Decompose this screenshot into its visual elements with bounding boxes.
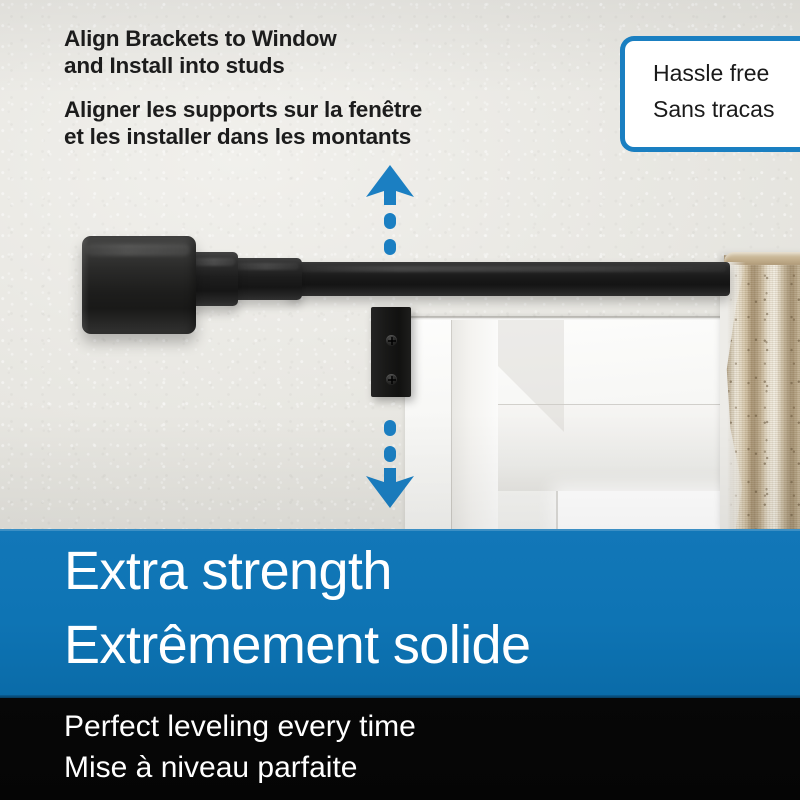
rod-specular-highlight [290, 266, 726, 272]
finial-left-edge [82, 238, 89, 332]
arrow-up-dashed-icon [362, 163, 418, 261]
finial-highlight [86, 244, 190, 256]
product-feature-image: Align Brackets to Window and Install int… [0, 0, 800, 800]
casing-inner-jamb [452, 320, 498, 529]
black-band-text-english: Perfect leveling every time [64, 710, 416, 743]
badge-text-english: Hassle free [653, 55, 800, 91]
instruction-heading: Align Brackets to Window and Install int… [64, 26, 484, 150]
blue-band-text-french: Extrêmement solide [64, 617, 530, 673]
hassle-free-badge: Hassle free Sans tracas [620, 36, 800, 152]
phillips-screw-icon [386, 374, 397, 385]
instruction-fr-line1: Aligner les supports sur la fenêtre [64, 97, 484, 124]
badge-text-french: Sans tracas [653, 91, 800, 127]
casing-jamb-line [451, 320, 452, 529]
black-band-top-edge [0, 695, 800, 698]
instruction-heading-french: Aligner les supports sur la fenêtre et l… [64, 97, 484, 150]
black-band-text-french: Mise à niveau parfaite [64, 751, 358, 784]
blue-band-text-english: Extra strength [64, 543, 392, 599]
instruction-en-line1: Align Brackets to Window [64, 26, 484, 53]
blue-band-top-edge [0, 529, 800, 531]
arrow-down-dashed-icon [362, 418, 418, 510]
instruction-heading-english: Align Brackets to Window and Install int… [64, 26, 484, 79]
instruction-en-line2: and Install into studs [64, 53, 484, 80]
window-opening-edge [556, 491, 558, 529]
phillips-screw-icon [386, 335, 397, 346]
rod-inner-highlight [233, 263, 299, 270]
instruction-fr-line2: et les installer dans les montants [64, 124, 484, 151]
rod-collar-highlight [193, 258, 235, 266]
